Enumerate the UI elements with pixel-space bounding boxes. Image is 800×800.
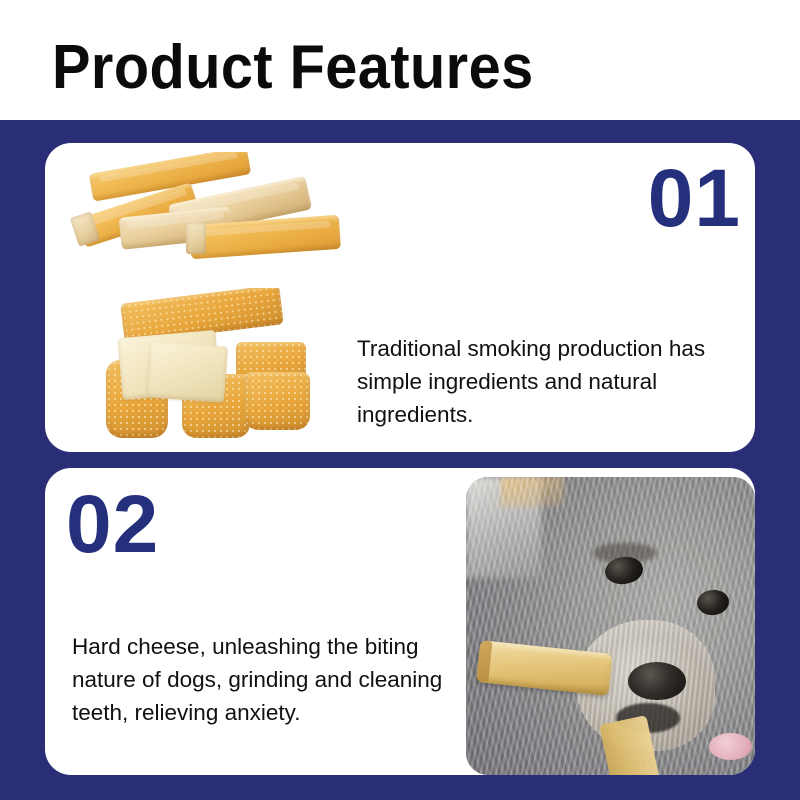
dog-chewing-photo	[466, 477, 755, 775]
feature-card-02: 02 Hard cheese, unleashing the biting na…	[45, 468, 755, 775]
product-features-infographic: Product Features 01 Traditional smoking …	[0, 0, 800, 800]
card-text-02: Hard cheese, unleashing the biting natur…	[72, 630, 467, 729]
card-text-01: Traditional smoking production has simpl…	[357, 332, 739, 431]
feature-card-01: 01 Traditional smoking production has si…	[45, 143, 755, 452]
cheese-sticks-photo	[62, 152, 347, 282]
cheese-chunks-photo	[86, 288, 338, 448]
card-number-02: 02	[66, 484, 159, 566]
dog-tongue	[709, 733, 752, 760]
card-number-01: 01	[648, 158, 741, 240]
dog-nose	[628, 662, 686, 701]
header-band: Product Features	[0, 0, 800, 120]
page-title: Product Features	[52, 37, 534, 99]
